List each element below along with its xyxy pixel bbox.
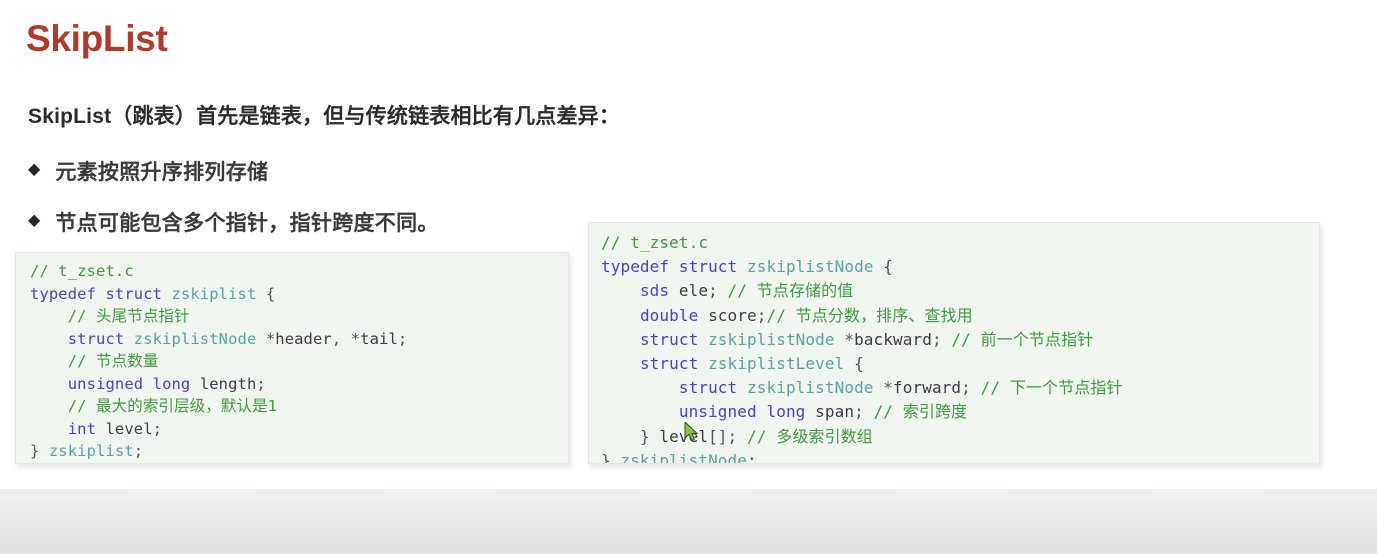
bullet-item-0-label: 元素按照升序排列存储: [55, 156, 268, 186]
bullet-item-1: ◆ 节点可能包含多个指针，指针跨度不同。: [28, 207, 439, 237]
slide-canvas: SkipList SkipList（跳表）首先是链表，但与传统链表相比有几点差异…: [0, 0, 1377, 489]
code-block-zskiplist-text: // t_zset.c typedef struct zskiplist { /…: [16, 253, 568, 463]
bullet-item-0: ◆ 元素按照升序排列存储: [28, 156, 268, 186]
bottom-gradient-band: [0, 489, 1377, 554]
lead-paragraph: SkipList（跳表）首先是链表，但与传统链表相比有几点差异：: [28, 100, 620, 130]
bullet-item-1-label: 节点可能包含多个指针，指针跨度不同。: [55, 207, 438, 237]
diamond-bullet-icon: ◆: [28, 162, 40, 178]
page-title: SkipList: [26, 18, 168, 60]
code-block-zskiplistnode: // t_zset.c typedef struct zskiplistNode…: [588, 222, 1320, 464]
diamond-bullet-icon: ◆: [28, 213, 40, 229]
code-block-zskiplist: // t_zset.c typedef struct zskiplist { /…: [15, 252, 569, 464]
code-block-zskiplistnode-text: // t_zset.c typedef struct zskiplistNode…: [589, 223, 1319, 464]
